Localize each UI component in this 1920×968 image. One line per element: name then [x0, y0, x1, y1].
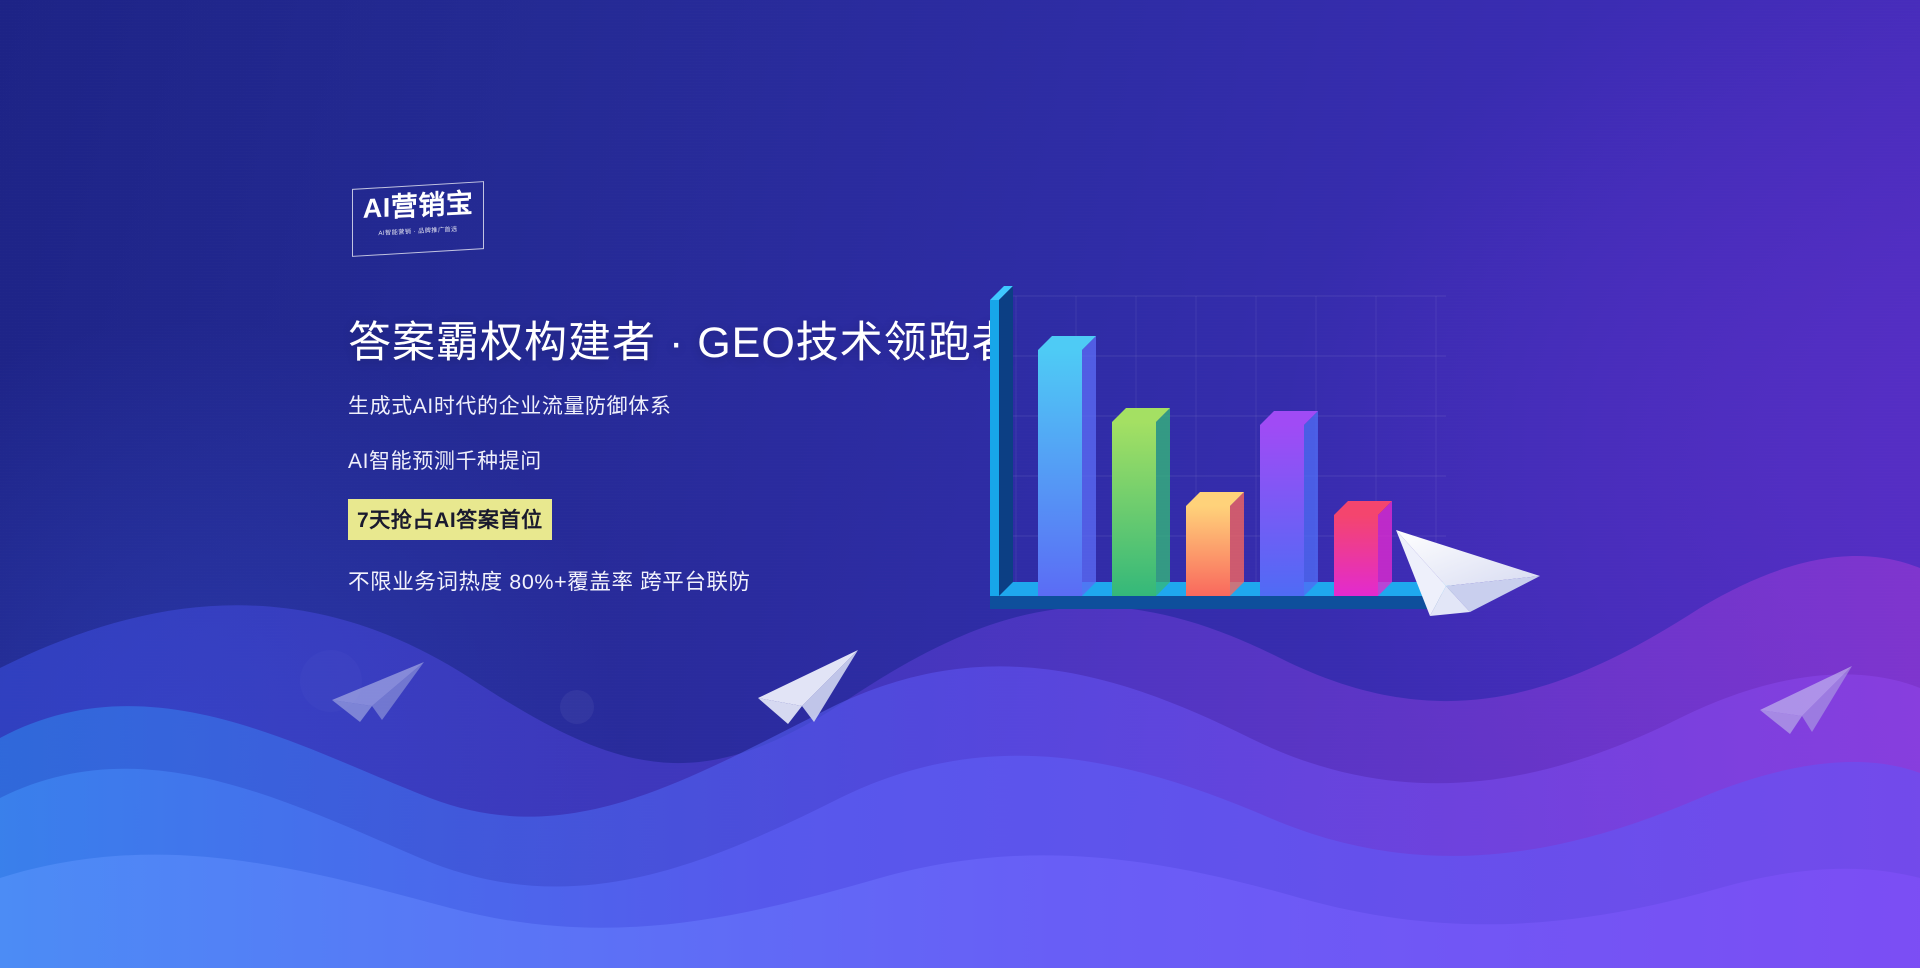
- paper-plane-icon: [1388, 508, 1548, 628]
- hero-copy: 答案霸权构建者 · GEO技术领跑者 生成式AI时代的企业流量防御体系 AI智能…: [348, 318, 1068, 596]
- highlight-row: 7天抢占AI答案首位: [348, 499, 1068, 540]
- page-title: 答案霸权构建者 · GEO技术领跑者: [348, 318, 1068, 370]
- bar-chart: [980, 296, 1450, 666]
- hero-subtitle-1: 生成式AI时代的企业流量防御体系: [348, 390, 1068, 420]
- paper-plane-icon: [326, 648, 436, 728]
- paper-plane-icon: [752, 640, 872, 730]
- brand-logo[interactable]: AI营销宝 AI智能营销 · 品牌推广首选: [352, 185, 484, 253]
- wave-decoration: [0, 548, 1920, 968]
- hero-subtitle-2: AI智能预测千种提问: [348, 445, 1068, 475]
- bar-5: [1334, 501, 1392, 596]
- cta-highlight-badge[interactable]: 7天抢占AI答案首位: [348, 499, 552, 540]
- logo-text: AI营销宝: [352, 190, 484, 224]
- bar-1: [1038, 336, 1096, 596]
- bar-4: [1260, 411, 1318, 596]
- paper-plane-icon: [1752, 658, 1872, 744]
- hero-features-line: 不限业务词热度 80%+覆盖率 跨平台联防: [348, 565, 1068, 596]
- bar-2: [1112, 408, 1170, 596]
- bar-3: [1186, 492, 1244, 596]
- hero-banner: AI营销宝 AI智能营销 · 品牌推广首选 答案霸权构建者 · GEO技术领跑者…: [0, 0, 1920, 968]
